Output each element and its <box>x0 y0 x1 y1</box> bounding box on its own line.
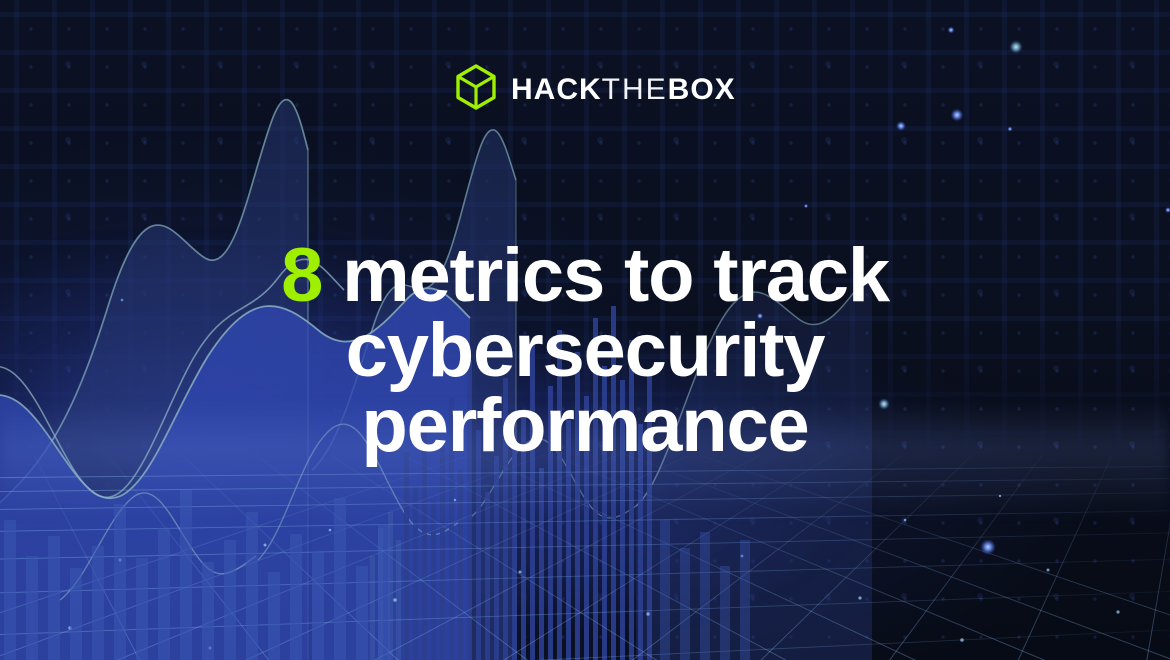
page-title: 8 metrics to track cybersecurity perform… <box>0 238 1170 464</box>
logo-hack: HACK <box>511 75 602 105</box>
hexagon-cube-icon <box>455 64 497 115</box>
headline-line-1-rest: metrics to track <box>342 233 889 318</box>
headline-line-3: performance <box>0 388 1170 463</box>
hero-banner: HACKTHEBOX 8 metrics to track cybersecur… <box>0 0 1170 660</box>
headline-accent-number: 8 <box>281 233 322 318</box>
logo-box: BOX <box>668 75 736 105</box>
logo-wordmark: HACKTHEBOX <box>511 75 736 105</box>
logo-the: THE <box>602 75 668 105</box>
headline-line-1: 8 metrics to track <box>0 238 1170 313</box>
headline-line-2: cybersecurity <box>0 313 1170 388</box>
hackthebox-logo[interactable]: HACKTHEBOX <box>455 64 736 115</box>
